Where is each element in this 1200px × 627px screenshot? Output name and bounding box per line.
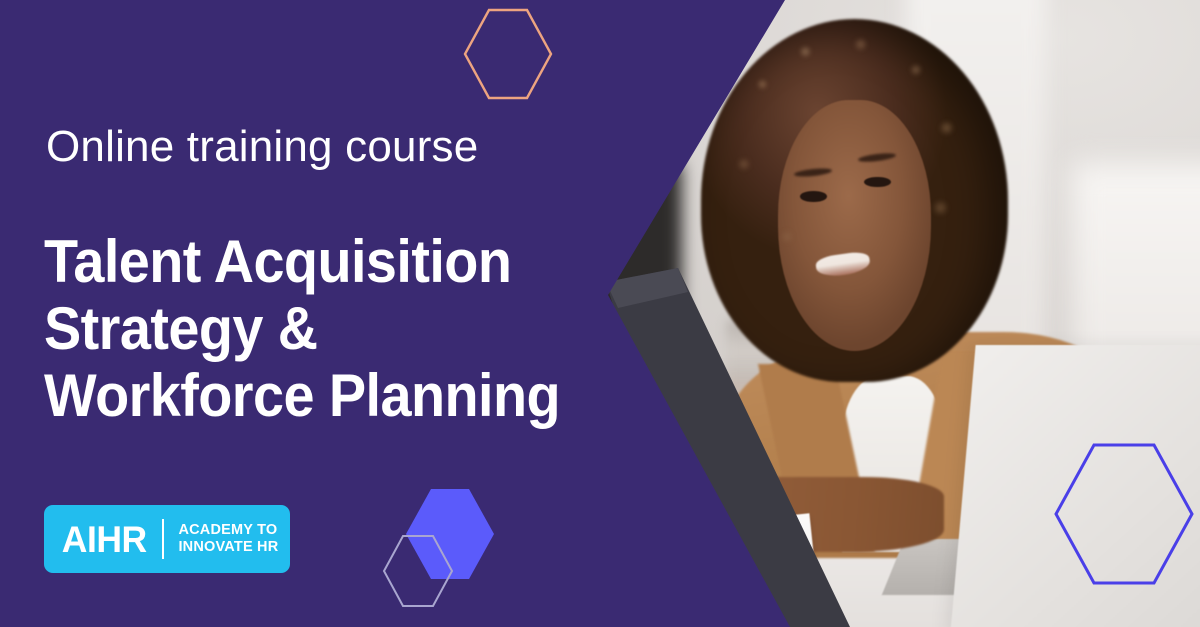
logo-tagline-line-2: INNOVATE HR: [178, 539, 278, 556]
eyebrow-text: Online training course: [46, 122, 478, 172]
course-promo-banner: Online training course Talent Acquisitio…: [0, 0, 1200, 627]
logo-wordmark: AIHR: [62, 521, 147, 558]
headline-line-1: Talent Acquisition: [44, 228, 560, 295]
page-title: Talent Acquisition Strategy & Workforce …: [44, 228, 560, 430]
logo-divider: [162, 519, 164, 559]
laptop-screen: [951, 345, 1200, 627]
logo-tagline: ACADEMY TO INNOVATE HR: [178, 522, 278, 557]
aihr-logo[interactable]: AIHR ACADEMY TO INNOVATE HR: [44, 505, 290, 573]
headline-line-3: Workforce Planning: [44, 362, 560, 429]
headline-line-2: Strategy &: [44, 295, 560, 362]
logo-tagline-line-1: ACADEMY TO: [178, 522, 278, 539]
hair-texture: [701, 19, 1008, 383]
